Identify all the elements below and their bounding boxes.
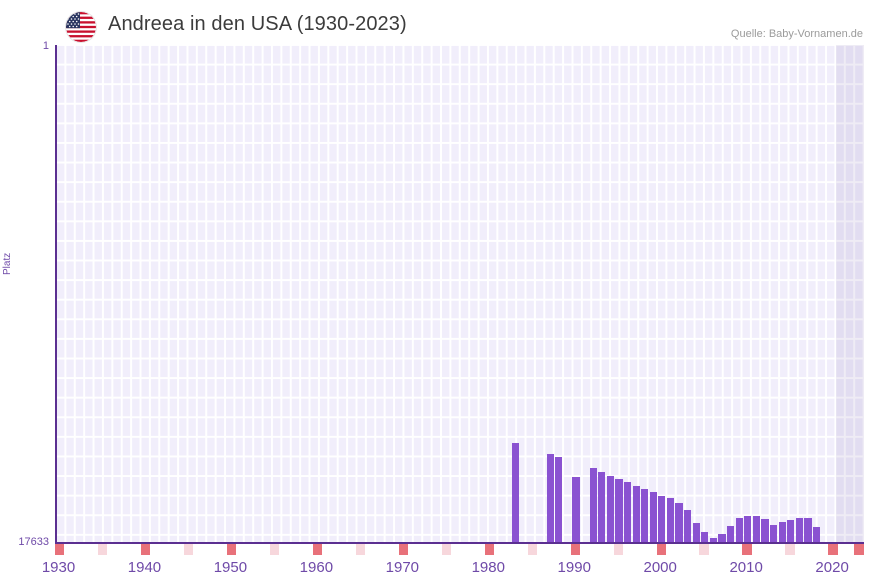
x-tick-1960: 1960 [300,559,333,576]
bar-2002 [675,503,682,543]
x-tick-1930: 1930 [42,559,75,576]
x-tick-1970: 1970 [386,559,419,576]
x-tick-2000: 2000 [644,559,677,576]
bar-2009 [736,518,743,543]
tick-mark-2015 [785,544,794,555]
bar-1992 [590,468,597,543]
bar-2004 [693,523,700,543]
tick-mark-1985 [528,544,537,555]
x-tick-2010: 2010 [729,559,762,576]
bar-1990 [572,477,579,543]
tick-mark-1930 [55,544,64,555]
bar-2013 [770,525,777,543]
tick-mark-2000 [657,544,666,555]
bar-2003 [684,510,691,543]
chart-header: Andreea in den USA (1930-2023) Quelle: B… [0,0,873,46]
tick-mark-1945 [184,544,193,555]
tick-mark-1970 [399,544,408,555]
bar-1993 [598,472,605,543]
chart-title: Andreea in den USA (1930-2023) [108,13,407,36]
bar-1997 [633,486,640,543]
x-tick-1940: 1940 [128,559,161,576]
tick-mark-1965 [356,544,365,555]
tick-mark-1960 [313,544,322,555]
x-tick-1980: 1980 [472,559,505,576]
bar-2015 [787,520,794,543]
bar-2016 [796,518,803,543]
bar-1996 [624,482,631,543]
source-attribution: Quelle: Baby-Vornamen.de [731,28,863,40]
bar-1999 [650,492,657,543]
tick-mark-1990 [571,544,580,555]
tick-mark-1995 [614,544,623,555]
bar-2012 [761,519,768,543]
tick-mark-2010 [742,544,751,555]
tick-mark-1940 [141,544,150,555]
y-axis-line [55,45,57,543]
y-axis-label-bottom: 17633 [18,536,49,548]
plot-area [56,45,864,543]
x-tick-2020: 2020 [815,559,848,576]
y-axis-label-top: 1 [43,40,49,52]
bar-2008 [727,526,734,543]
bar-1995 [615,479,622,543]
tick-mark-1955 [270,544,279,555]
bar-1983 [512,443,519,543]
tick-mark-1935 [98,544,107,555]
bar-1994 [607,476,614,543]
decade-tick-strip [56,544,864,555]
bar-1998 [641,489,648,543]
bar-2001 [667,498,674,543]
x-tick-1990: 1990 [558,559,591,576]
bar-1987 [547,454,554,543]
tick-mark-1980 [485,544,494,555]
bar-1988 [555,457,562,543]
chart-container: Andreea in den USA (1930-2023) Quelle: B… [0,0,873,587]
x-tick-1950: 1950 [214,559,247,576]
bar-2010 [744,516,751,543]
x-axis-tick-labels: 1930194019501960197019801990200020102020 [0,559,873,583]
tick-mark-1950 [227,544,236,555]
tick-mark-2020 [828,544,837,555]
bar-2000 [658,496,665,543]
y-axis-title: Platz [2,253,13,275]
tick-mark-2023 [854,544,863,555]
us-flag-icon [66,12,96,42]
bar-2011 [753,516,760,543]
tick-mark-2005 [699,544,708,555]
bar-series [56,45,864,543]
tick-mark-1975 [442,544,451,555]
bar-2018 [813,527,820,543]
bar-2017 [804,518,811,543]
bar-2014 [779,522,786,543]
